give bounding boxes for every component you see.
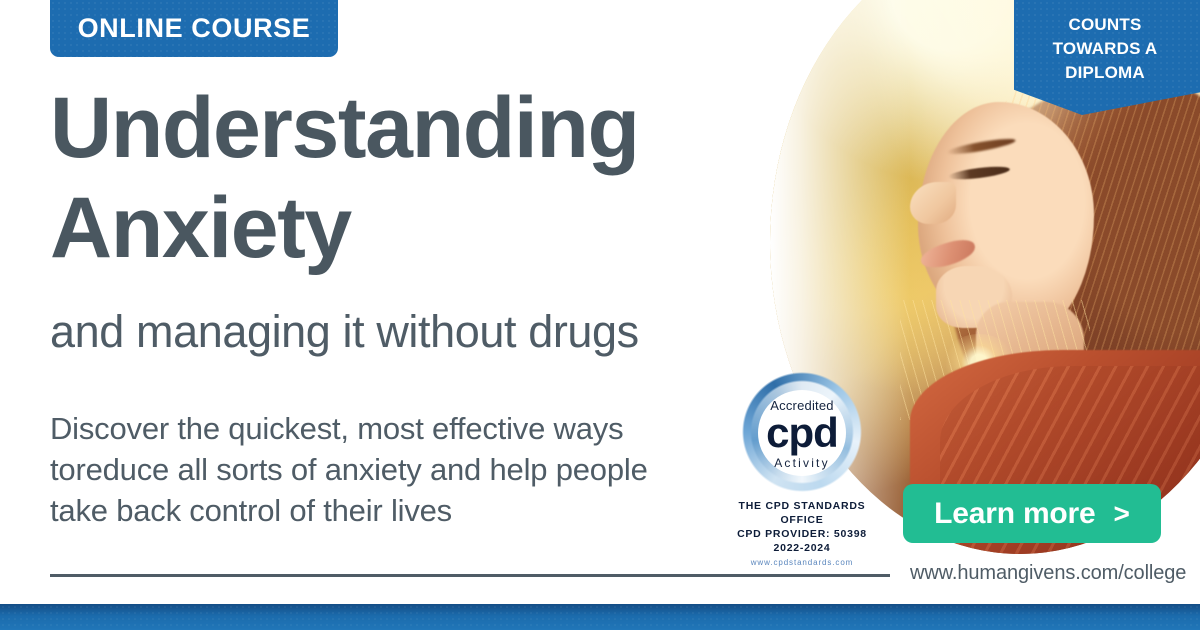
cpd-activity-label: Activity — [738, 456, 866, 470]
cpd-years-line: 2022-2024 — [722, 541, 882, 555]
cpd-website-line: www.cpdstandards.com — [722, 558, 882, 567]
course-title-line-2: Anxiety — [50, 178, 810, 278]
course-title-line-1: Understanding — [50, 78, 810, 178]
course-description: Discover the quickest, most effective wa… — [50, 408, 740, 531]
learn-more-label: Learn more — [934, 497, 1095, 531]
cpd-standards-office-line: THE CPD STANDARDS OFFICE — [722, 499, 882, 527]
promo-banner: ONLINE COURSE COUNTS TOWARDS A DIPLOMA U… — [0, 0, 1200, 630]
course-title: Understanding Anxiety — [50, 78, 810, 278]
learn-more-button[interactable]: Learn more > — [903, 484, 1161, 543]
website-url[interactable]: www.humangivens.com/college — [910, 562, 1186, 585]
footer-divider — [50, 574, 890, 577]
course-description-line-2: toreduce all sorts of anxiety and help p… — [50, 449, 740, 490]
course-description-line-3: take back control of their lives — [50, 490, 740, 531]
bottom-accent-bar — [0, 604, 1200, 630]
diploma-ribbon-line-1: COUNTS — [1014, 13, 1200, 37]
cpd-accreditation-logo: Accredited cpd Activity THE CPD STANDARD… — [722, 372, 882, 544]
cpd-wordmark: cpd — [738, 410, 866, 456]
diploma-ribbon-line-3: DIPLOMA — [1014, 61, 1200, 85]
cpd-roundel-icon: Accredited cpd Activity — [738, 372, 866, 494]
online-course-badge: ONLINE COURSE — [50, 0, 338, 57]
course-subtitle: and managing it without drugs — [50, 305, 810, 359]
cpd-provider-number-line: CPD PROVIDER: 50398 — [722, 527, 882, 541]
course-description-line-1: Discover the quickest, most effective wa… — [50, 408, 740, 449]
diploma-ribbon-line-2: TOWARDS A — [1014, 37, 1200, 61]
chevron-right-icon: > — [1114, 498, 1130, 530]
online-course-badge-label: ONLINE COURSE — [78, 13, 311, 44]
